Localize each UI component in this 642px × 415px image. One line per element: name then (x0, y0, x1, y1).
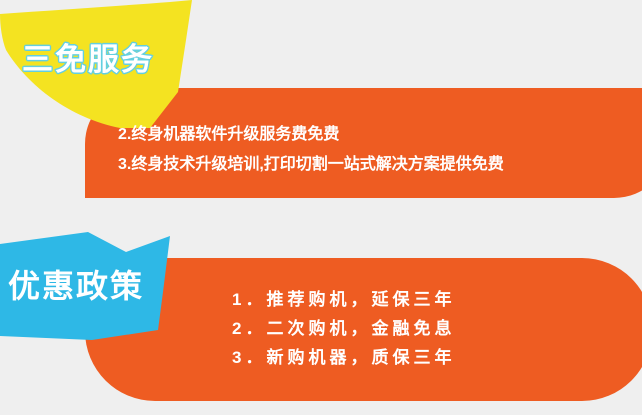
copy-line: 1．推荐购机，延保三年 (232, 285, 455, 314)
promo-poster: 三免服务 2.终身机器软件升级服务费免费 3.终身技术升级培训,打印切割一站式解… (0, 0, 642, 415)
copy-line: 3．新购机器，质保三年 (232, 343, 455, 372)
preferential-policy-copy: 1．推荐购机，延保三年 2．二次购机，金融免息 3．新购机器，质保三年 (232, 285, 455, 372)
copy-line: 2.终身机器软件升级服务费免费 (118, 120, 504, 150)
three-free-service-title: 三免服务 (22, 44, 154, 75)
three-free-service-copy: 2.终身机器软件升级服务费免费 3.终身技术升级培训,打印切割一站式解决方案提供… (118, 120, 504, 180)
copy-line: 3.终身技术升级培训,打印切割一站式解决方案提供免费 (118, 150, 504, 180)
copy-line: 2．二次购机，金融免息 (232, 314, 455, 343)
preferential-policy-title: 优惠政策 (8, 270, 144, 302)
